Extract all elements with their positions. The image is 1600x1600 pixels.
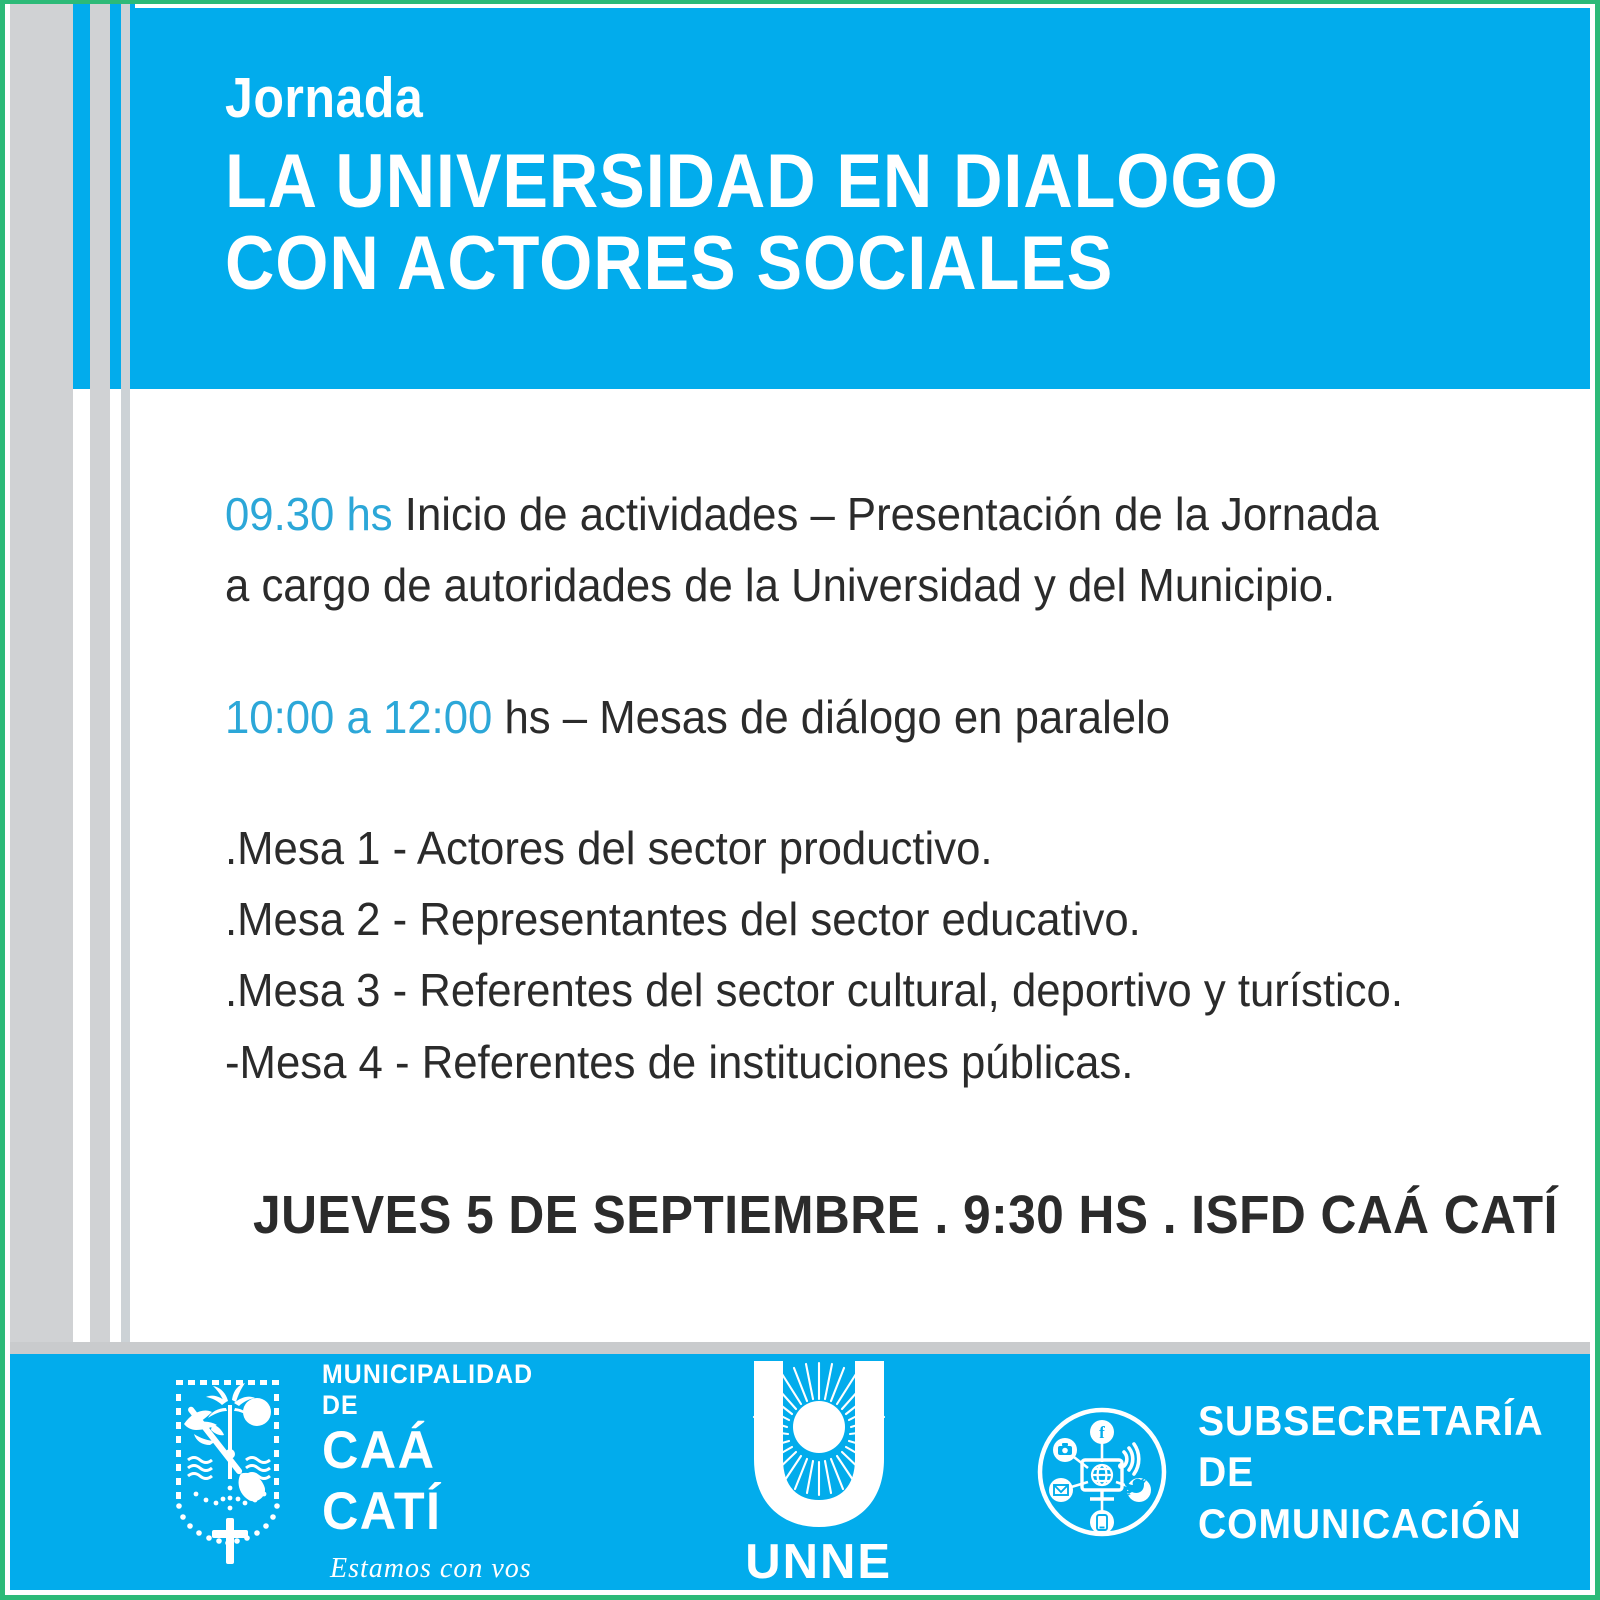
logo-municipalidad-caa-cati: MUNICIPALIDAD DE CAÁ CATÍ Estamos con vo… [160, 1359, 579, 1585]
agenda-item-2-time: 10:00 a 12:00 [225, 691, 492, 743]
footer-separator [10, 1342, 1590, 1354]
unne-wordmark: UNNE [745, 1534, 892, 1590]
left-stripe-blue-overlay [5, 4, 135, 389]
stripe-blue-1 [73, 4, 90, 389]
agenda-item-1-desc: Inicio de actividades – Presentación de … [405, 488, 1379, 540]
stripe-blue-3 [130, 4, 135, 389]
spacer-2 [225, 753, 1590, 813]
mesa-item-4: -Mesa 4 - Referentes de instituciones pú… [225, 1027, 1522, 1098]
agenda-item-1-text [393, 488, 405, 540]
municipalidad-line-2: CAÁ CATÍ [322, 1421, 566, 1543]
municipalidad-tagline: Estamos con vos [330, 1553, 579, 1585]
logo-unne: UNNE [724, 1355, 914, 1590]
communication-network-icon: f [1032, 1402, 1172, 1542]
agenda-item-1-time: 09.30 hs [225, 488, 393, 540]
header-title-line-1: LA UNIVERSIDAD EN DIALOGO [225, 141, 1454, 223]
subsecretaria-line-1: SUBSECRETARÍA [1198, 1395, 1563, 1446]
header-banner: Jornada LA UNIVERSIDAD EN DIALOGO CON AC… [135, 8, 1590, 389]
svg-text:f: f [1099, 1423, 1105, 1442]
mesa-item-3: .Mesa 3 - Referentes del sector cultural… [225, 955, 1522, 1026]
agenda-item-1-line-2: a cargo de autoridades de la Universidad… [225, 550, 1522, 621]
header-kicker: Jornada [225, 70, 1426, 127]
unne-u-sun-icon [724, 1355, 914, 1540]
municipalidad-line-1: MUNICIPALIDAD DE [322, 1359, 558, 1421]
logo-subsecretaria-comunicacion: f [1032, 1395, 1590, 1549]
mesa-item-2: .Mesa 2 - Representantes del sector educ… [225, 884, 1522, 955]
agenda-section: 09.30 hs Inicio de actividades – Present… [135, 389, 1590, 1342]
agenda-item-2-space [492, 691, 504, 743]
spacer-1 [225, 622, 1590, 682]
subsecretaria-line-2: DE COMUNICACIÓN [1198, 1446, 1563, 1548]
event-date-location: JUEVES 5 DE SEPTIEMBRE . 9:30 HS . ISFD … [253, 1184, 1483, 1246]
agenda-item-1-line-1: 09.30 hs Inicio de actividades – Present… [225, 479, 1522, 550]
agenda-item-2-desc: hs – Mesas de diálogo en paralelo [504, 691, 1170, 743]
caa-cati-coat-of-arms-icon [160, 1372, 300, 1572]
header-title-line-2: CON ACTORES SOCIALES [225, 223, 1454, 305]
stripe-blue-2 [110, 4, 121, 389]
footer-logos-bar: MUNICIPALIDAD DE CAÁ CATÍ Estamos con vo… [10, 1354, 1590, 1590]
event-flyer: Jornada LA UNIVERSIDAD EN DIALOGO CON AC… [0, 0, 1600, 1600]
agenda-item-2: 10:00 a 12:00 hs – Mesas de diálogo en p… [225, 682, 1522, 753]
mesa-item-1: .Mesa 1 - Actores del sector productivo. [225, 813, 1522, 884]
